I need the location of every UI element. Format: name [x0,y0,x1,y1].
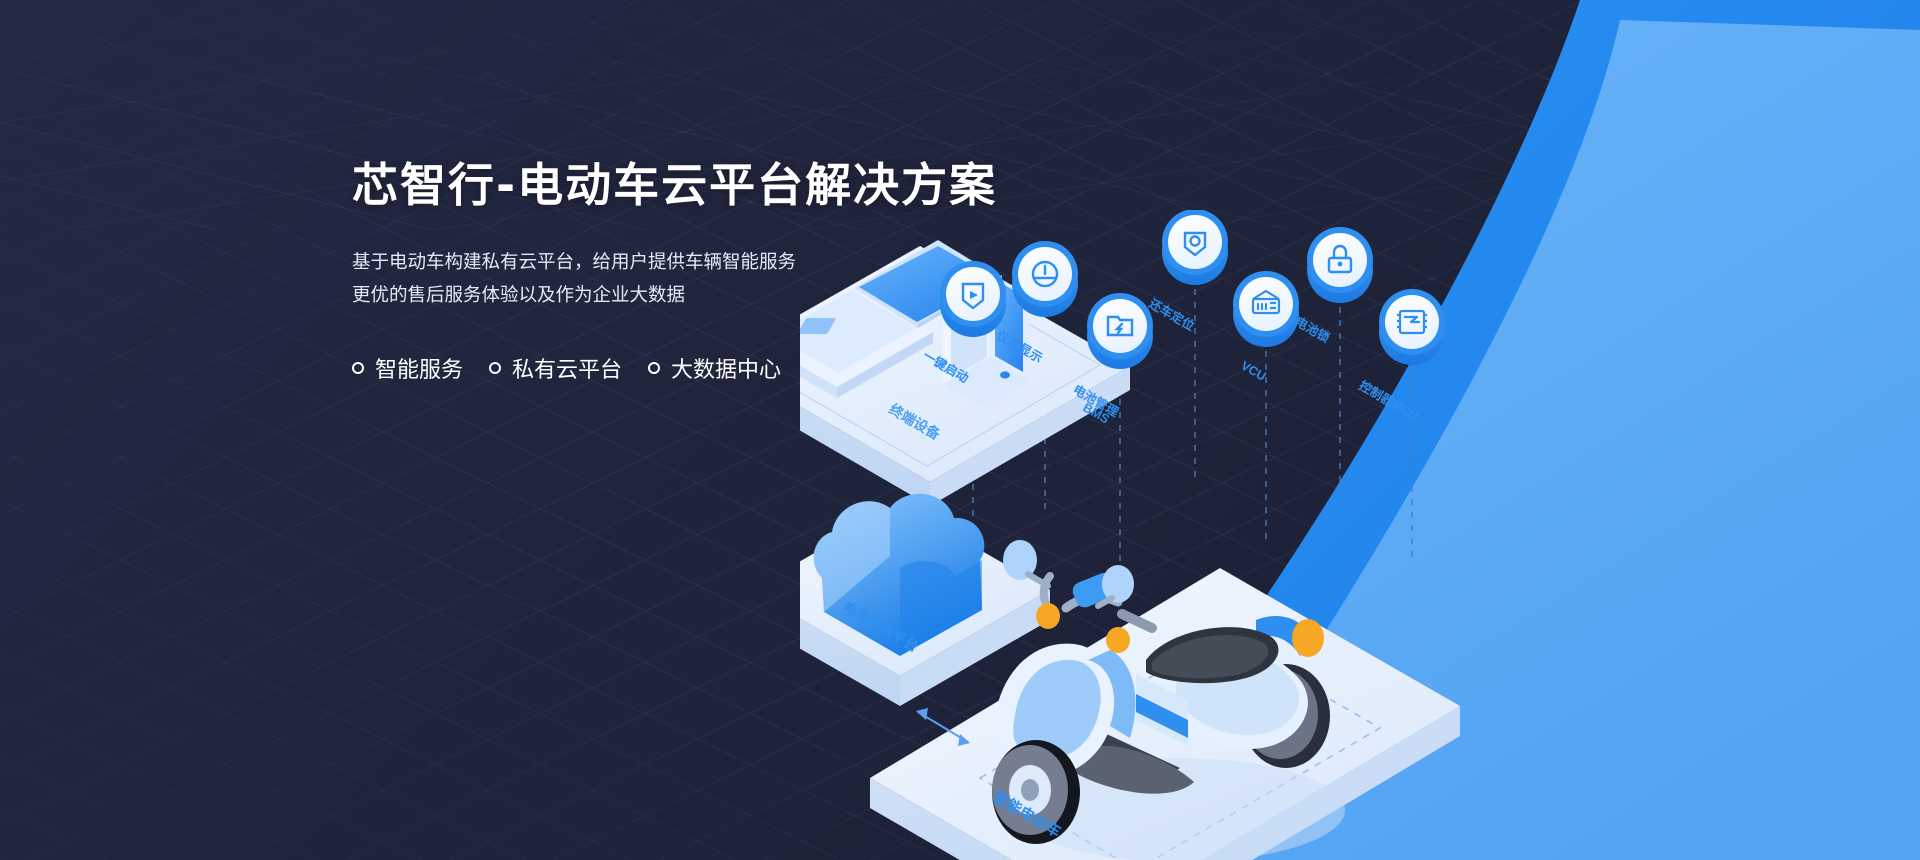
feature-node-battery-management[interactable] [1087,293,1153,369]
bullet-label: 大数据中心 [671,352,781,384]
feature-node-battery-lock[interactable] [1307,227,1373,303]
bullet-label: 私有云平台 [512,352,622,384]
isometric-illustration: 终端设备 电动车云平台 智能电动车 一键启动 仪表显示 电池管理 BMS 还车定… [800,210,1920,860]
feature-node-controller-mcu[interactable] [1379,289,1445,365]
bullet-item-private-cloud[interactable]: 私有云平台 [489,352,622,384]
circle-outline-icon [648,362,660,374]
electric-scooter-icon [992,540,1345,860]
bullet-item-smart-service[interactable]: 智能服务 [352,352,463,384]
node-label-return-location: 还车定位 [1146,295,1198,334]
circle-outline-icon [352,362,364,374]
feature-node-return-location[interactable] [1162,210,1228,285]
illustration-svg: 终端设备 电动车云平台 智能电动车 一键启动 仪表显示 电池管理 BMS 还车定… [800,210,1920,860]
feature-node-one-key-start[interactable] [940,261,1006,337]
circle-outline-icon [489,362,501,374]
bullet-item-big-data-center[interactable]: 大数据中心 [648,352,781,384]
node-label-vcu: VCU [1239,358,1269,383]
feature-node-vcu[interactable] [1233,271,1299,347]
hero-banner: 芯智行-电动车云平台解决方案 基于电动车构建私有云平台，给用户提供车辆智能服务 … [0,0,1920,860]
bullet-label: 智能服务 [375,352,463,384]
node-label-battery-lock: 电池锁 [1293,314,1333,346]
feature-node-dashboard-display[interactable] [1012,241,1078,317]
page-title: 芯智行-电动车云平台解决方案 [352,158,992,212]
